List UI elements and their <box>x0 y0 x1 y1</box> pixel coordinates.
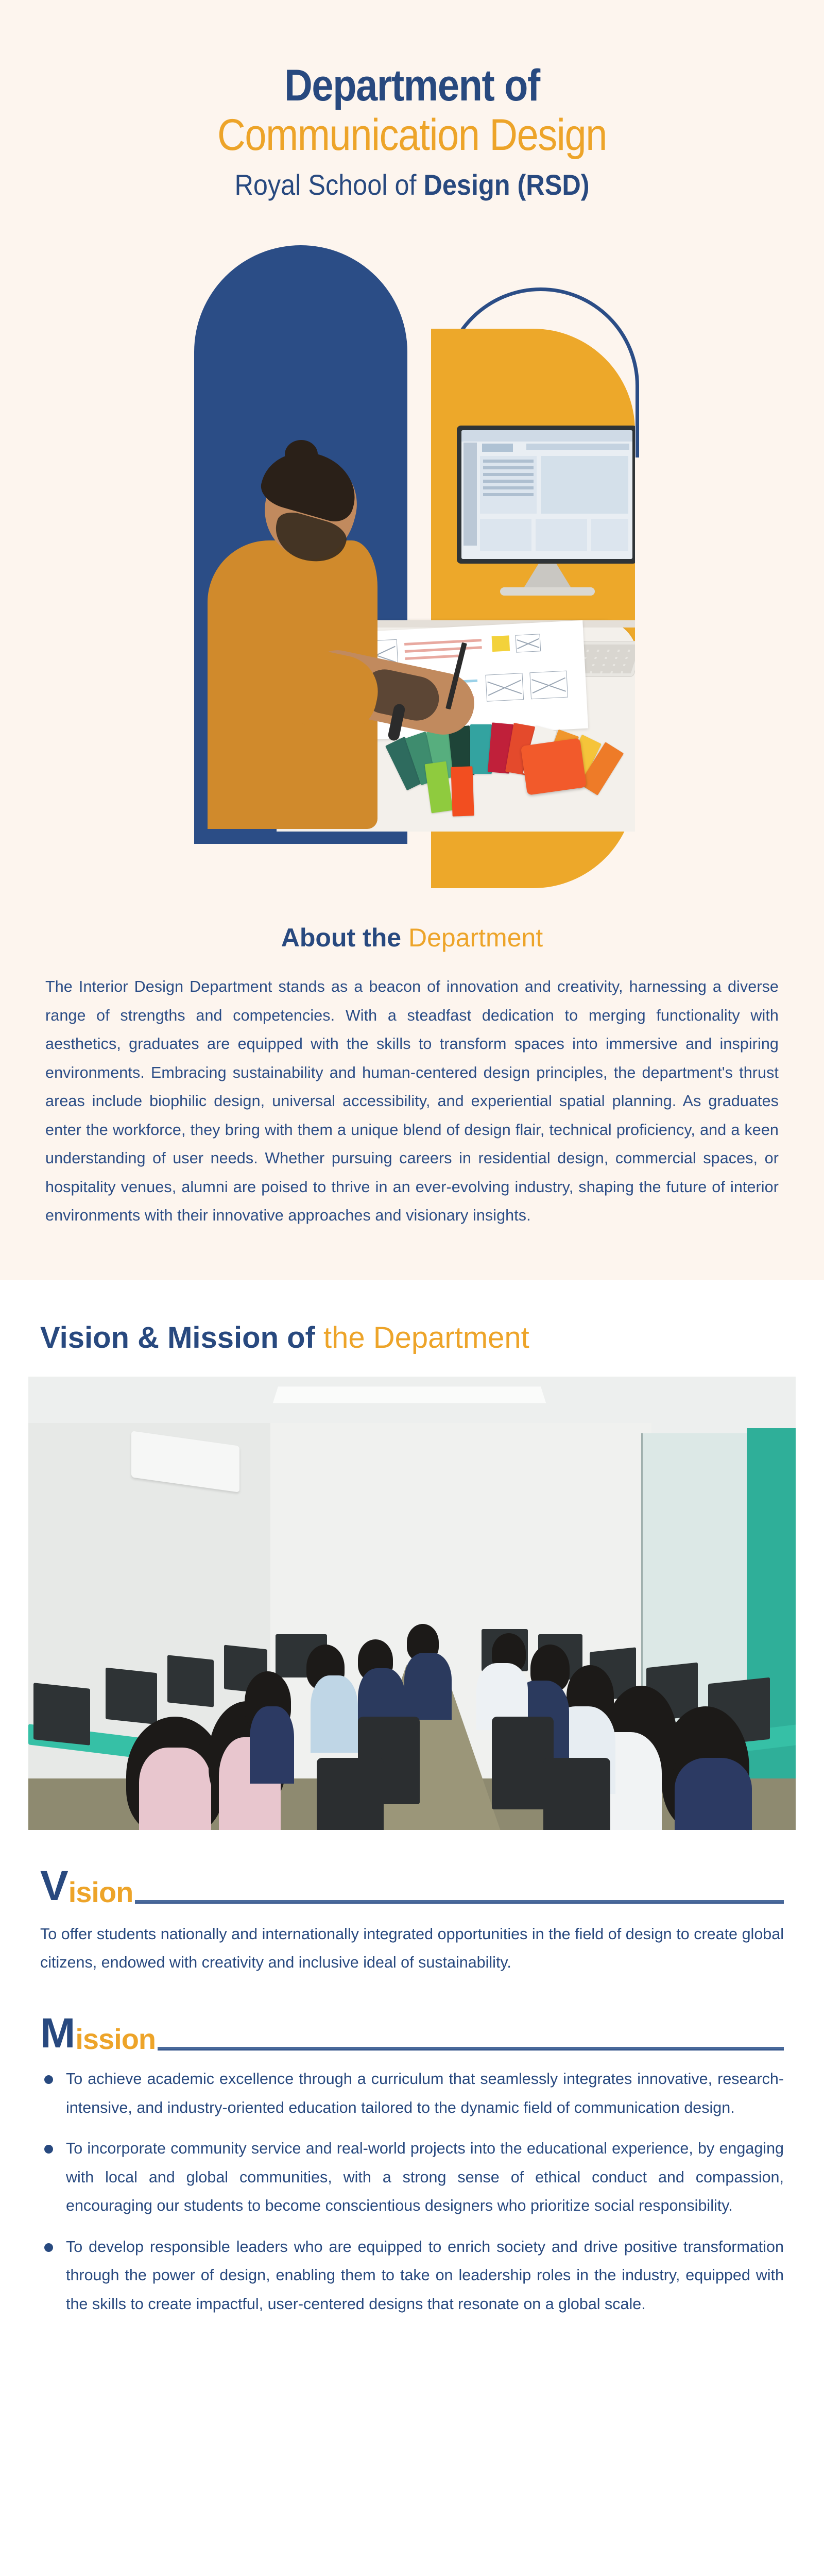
wireframe-box <box>529 671 568 700</box>
list-item: To incorporate community service and rea… <box>40 2134 784 2221</box>
intro-section: Department of Communication Design Royal… <box>0 0 824 1280</box>
vision-mission-section: Vision & Mission of the Department <box>0 1280 824 2367</box>
screen-nav-placeholder <box>526 444 629 450</box>
monitor-base <box>500 587 595 596</box>
desk-scene <box>189 311 635 832</box>
mission-list: To achieve academic excellence through a… <box>40 2065 784 2318</box>
screen-product-card <box>536 519 587 551</box>
wireframe-chip <box>492 636 510 652</box>
mission-heading-capital: M <box>40 2015 74 2052</box>
student <box>250 1706 294 1784</box>
screen-hero-block <box>541 456 628 514</box>
screen-product-card <box>480 519 531 551</box>
hero-photo-designer <box>189 311 635 832</box>
chair <box>317 1758 384 1830</box>
vision-body-text: To offer students nationally and interna… <box>40 1920 784 1977</box>
about-section: About the Department The Interior Design… <box>0 887 824 1280</box>
vision-heading-capital: V <box>40 1868 67 1905</box>
list-item: To achieve academic excellence through a… <box>40 2065 784 2122</box>
school-prefix: Royal School of <box>234 168 423 201</box>
page-title: Department of Communication Design Royal… <box>0 0 824 204</box>
monitor <box>106 1668 157 1725</box>
student <box>139 1748 211 1830</box>
mission-heading-rest: ission <box>75 2027 156 2052</box>
school-bold: Design (RSD) <box>423 168 589 201</box>
student <box>311 1675 358 1753</box>
title-line-department: Department of <box>49 61 775 110</box>
chair <box>543 1758 610 1830</box>
vision-heading: V ision <box>40 1868 784 1905</box>
about-heading-gold: Department <box>408 923 543 952</box>
monitor-screen <box>461 430 632 559</box>
monitor-stand <box>523 564 572 589</box>
mission-heading: M ission <box>40 2015 784 2052</box>
title-line-school: Royal School of Design (RSD) <box>41 165 783 205</box>
about-heading: About the Department <box>45 922 779 953</box>
vision-heading-rule <box>135 1900 784 1904</box>
screen-product-card <box>591 519 628 551</box>
vm-heading-blue: Vision & Mission of <box>40 1321 315 1354</box>
monitor <box>33 1683 90 1746</box>
wireframe-box <box>485 673 524 702</box>
monitor <box>167 1655 214 1707</box>
screen-toolbar <box>463 443 477 546</box>
screen-form-block <box>480 456 537 514</box>
classroom-photo <box>28 1377 796 1830</box>
student <box>675 1758 752 1830</box>
hero-collage <box>189 234 635 887</box>
about-body-text: The Interior Design Department stands as… <box>45 973 779 1230</box>
designer-person <box>208 440 429 832</box>
vm-heading-gold: the Department <box>323 1321 529 1354</box>
wireframe-box <box>516 634 541 652</box>
orange-phone <box>521 738 587 795</box>
ceiling-light <box>273 1387 546 1403</box>
vision-mission-heading: Vision & Mission of the Department <box>0 1280 824 1355</box>
title-line-communication-design: Communication Design <box>49 110 775 160</box>
student <box>404 1653 452 1720</box>
screen-topbar <box>461 430 632 442</box>
list-item: To develop responsible leaders who are e… <box>40 2233 784 2319</box>
vision-heading-rest: ision <box>68 1880 133 1905</box>
swatch <box>451 767 474 817</box>
monitor <box>457 426 635 564</box>
mission-heading-rule <box>158 2047 784 2050</box>
screen-logo-placeholder <box>482 444 513 452</box>
about-heading-blue: About the <box>281 923 401 952</box>
